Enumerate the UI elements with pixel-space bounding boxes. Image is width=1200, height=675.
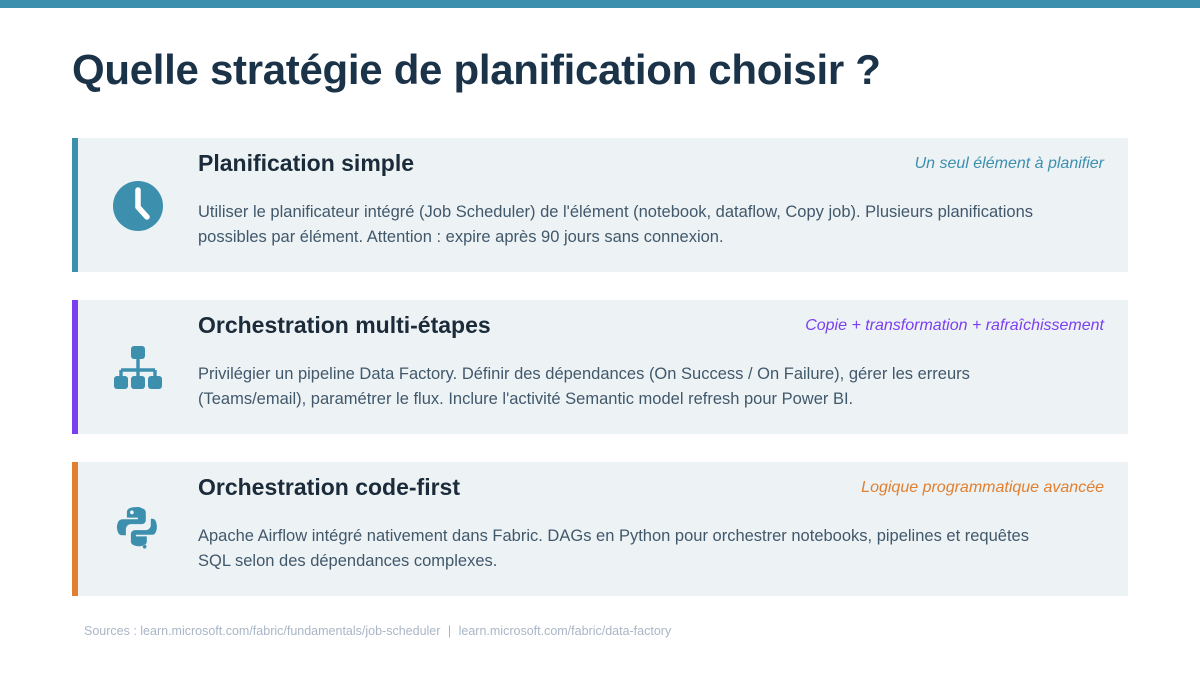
sources-separator: | (440, 624, 458, 638)
card-header: Orchestration code-first Logique program… (198, 474, 1104, 508)
card-title: Orchestration code-first (198, 474, 460, 501)
card-header: Orchestration multi-étapes Copie + trans… (198, 312, 1104, 346)
card-accent-bar (72, 138, 78, 272)
strategy-card-planification-simple[interactable]: Planification simple Un seul élément à p… (72, 138, 1128, 272)
source-link-data-factory[interactable]: learn.microsoft.com/fabric/data-factory (459, 624, 672, 638)
card-accent-bar (72, 300, 78, 434)
card-tag: Copie + transformation + rafraîchissemen… (805, 317, 1104, 335)
card-accent-bar (72, 462, 78, 596)
strategy-card-list: Planification simple Un seul élément à p… (72, 138, 1128, 624)
source-link-job-scheduler[interactable]: learn.microsoft.com/fabric/fundamentals/… (140, 624, 440, 638)
card-tag: Un seul élément à planifier (915, 155, 1104, 173)
card-title: Orchestration multi-étapes (198, 312, 491, 339)
strategy-card-orchestration-multi-etapes[interactable]: Orchestration multi-étapes Copie + trans… (72, 300, 1128, 434)
sources-footer: Sources : learn.microsoft.com/fabric/fun… (84, 624, 671, 638)
card-title: Planification simple (198, 150, 414, 177)
top-accent-bar (0, 0, 1200, 8)
card-tag: Logique programmatique avancée (861, 479, 1104, 497)
strategy-card-orchestration-code-first[interactable]: Orchestration code-first Logique program… (72, 462, 1128, 596)
card-body-text: Apache Airflow intégré nativement dans F… (198, 524, 1058, 574)
page-title: Quelle stratégie de planification choisi… (72, 46, 881, 94)
clock-icon (112, 180, 164, 232)
hierarchy-icon (112, 342, 164, 394)
card-header: Planification simple Un seul élément à p… (198, 150, 1104, 184)
python-icon (112, 504, 164, 556)
sources-label: Sources : (84, 624, 140, 638)
card-body-text: Privilégier un pipeline Data Factory. Dé… (198, 362, 1058, 412)
card-body-text: Utiliser le planificateur intégré (Job S… (198, 200, 1058, 250)
